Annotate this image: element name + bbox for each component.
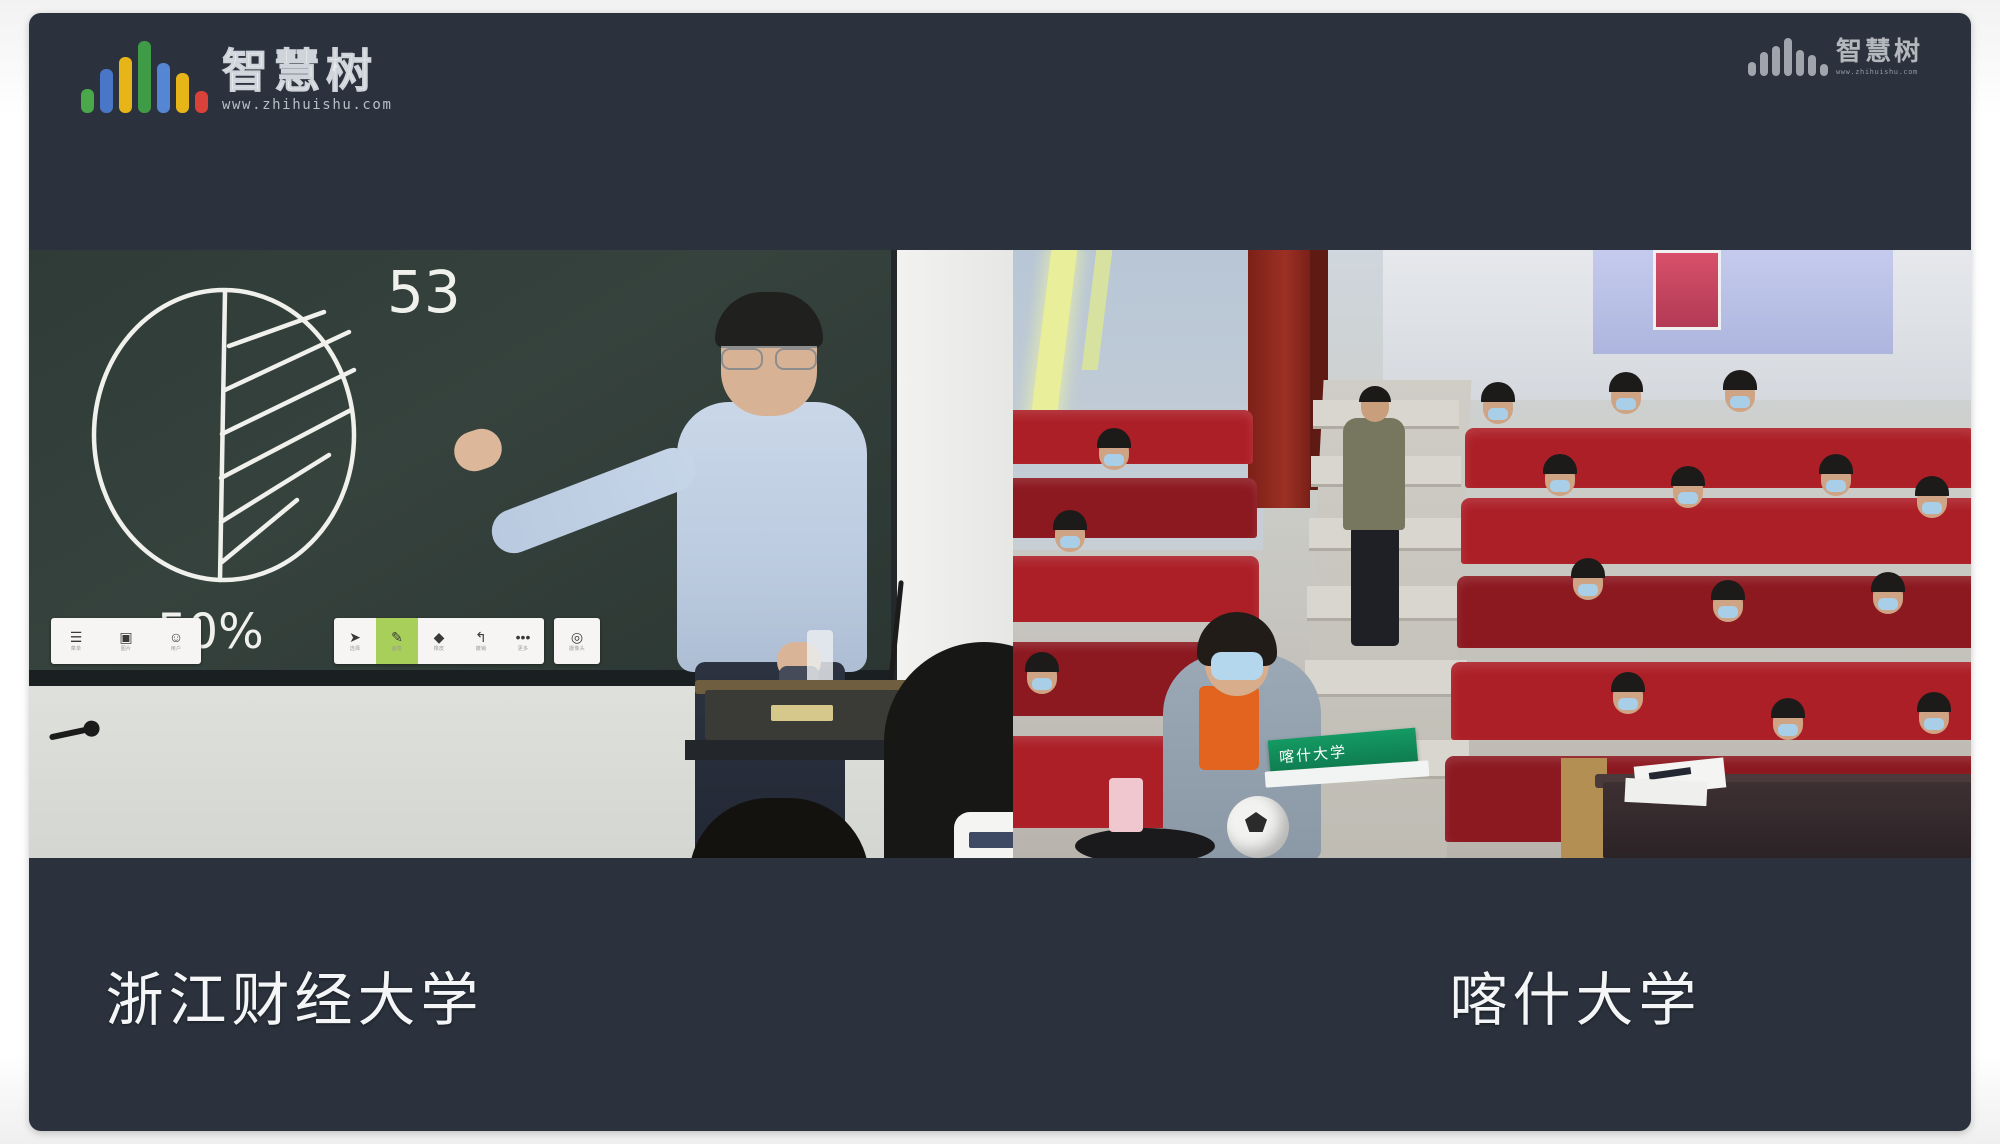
projection-screen	[1593, 250, 1893, 354]
side-cabinet	[1561, 758, 1607, 858]
papers-secondary	[1624, 778, 1707, 806]
caption-left-label: 浙江财经大学	[105, 953, 483, 1037]
hamburger-menu-glyph: ☰	[70, 630, 83, 644]
brand-url: www.zhihuishu.com	[222, 97, 393, 113]
camera-glyph: ◎	[571, 630, 583, 644]
face-mask	[1922, 502, 1942, 514]
seat-row	[1013, 556, 1259, 622]
face-mask	[1778, 724, 1798, 736]
undo-label: 撤销	[476, 645, 487, 652]
image-label: 图片	[121, 645, 132, 652]
face-mask	[1826, 480, 1846, 492]
watermark-url: www.zhihuishu.com	[1836, 68, 1923, 76]
face-mask	[1578, 584, 1598, 596]
face-mask	[1730, 396, 1750, 408]
board-camera-group[interactable]: ◎ 摄像头	[554, 618, 600, 664]
left-video-feed[interactable]: 53 50% ☰ 菜单 ▣ 图片 ☺ 用户	[29, 250, 1013, 858]
red-pillar	[1248, 250, 1310, 508]
face-mask	[1924, 718, 1944, 730]
brand-watermark: 智慧树 www.zhihuishu.com	[1748, 39, 1923, 76]
face-mask	[1718, 606, 1738, 618]
more-icon[interactable]: ••• 更多	[502, 630, 544, 652]
eraser-icon[interactable]: ◆ 橡皮	[418, 630, 460, 652]
hamburger-menu-label: 菜单	[71, 645, 82, 652]
lecturer-hair	[715, 292, 823, 348]
watermark-bars-icon	[1748, 42, 1828, 76]
soccer-ball	[1227, 796, 1289, 858]
undo-icon[interactable]: ↰ 撤销	[460, 630, 502, 652]
camera-icon[interactable]: ◎ 摄像头	[554, 630, 600, 652]
right-video-feed[interactable]: 喀什大学	[1013, 250, 1971, 858]
face-mask	[1060, 536, 1080, 548]
lecturer	[629, 290, 919, 858]
standing-instructor-legs	[1351, 526, 1399, 646]
brand-wordmark: 智慧树 www.zhihuishu.com	[222, 47, 393, 113]
image-icon[interactable]: ▣ 图片	[101, 630, 151, 652]
seat-row	[1465, 428, 1971, 488]
face-mask	[1616, 398, 1636, 410]
podium-panel	[771, 705, 833, 721]
foreground-student-scarf	[1199, 686, 1259, 770]
chalk-annotation-53: 53	[387, 258, 461, 326]
face-mask	[1032, 678, 1052, 690]
face-mask	[1618, 698, 1638, 710]
eraser-glyph: ◆	[434, 630, 445, 644]
pen-icon[interactable]: ✎ 画笔	[376, 618, 418, 664]
round-table	[1075, 828, 1215, 858]
brand-bars-icon	[81, 51, 208, 113]
board-menu-group[interactable]: ☰ 菜单 ▣ 图片 ☺ 用户	[51, 618, 201, 664]
seat-row	[1461, 498, 1971, 564]
banner-text: 喀什大学	[1278, 741, 1348, 768]
pen-label: 画笔	[392, 645, 403, 652]
more-label: 更多	[518, 645, 529, 652]
image-glyph: ▣	[119, 630, 132, 644]
stair-step	[1305, 660, 1467, 697]
user-avatar-icon[interactable]: ☺ 用户	[151, 630, 201, 652]
face-mask	[1878, 598, 1898, 610]
undo-glyph: ↰	[475, 630, 487, 644]
page-background: 智慧树 www.zhihuishu.com 智慧树 www.zhihuishu.…	[0, 0, 2000, 1144]
face-mask	[1488, 408, 1508, 420]
watermark-name: 智慧树	[1836, 39, 1923, 66]
caption-left: 浙江财经大学	[29, 858, 1000, 1131]
face-mask	[1211, 652, 1263, 680]
watermark-wordmark: 智慧树 www.zhihuishu.com	[1836, 39, 1923, 76]
lecturer-torso	[677, 402, 867, 672]
cursor-label: 选择	[350, 645, 361, 652]
board-tools-group[interactable]: ➤ 选择 ✎ 画笔 ◆ 橡皮 ↰ 撤销	[334, 618, 544, 664]
face-mask	[1550, 480, 1570, 492]
standing-instructor-body	[1343, 418, 1405, 530]
face-mask	[1678, 492, 1698, 504]
user-avatar-glyph: ☺	[169, 630, 183, 644]
hamburger-menu-icon[interactable]: ☰ 菜单	[51, 630, 101, 652]
more-glyph: •••	[516, 630, 531, 644]
camera-label: 摄像头	[569, 645, 585, 652]
caption-bar: 浙江财经大学 喀什大学	[29, 858, 1971, 1131]
cursor-glyph: ➤	[349, 630, 361, 644]
video-player-panel: 智慧树 www.zhihuishu.com 智慧树 www.zhihuishu.…	[29, 13, 1971, 1131]
face-mask	[1104, 454, 1124, 466]
seat-row	[1451, 662, 1971, 740]
seat-row	[1013, 478, 1257, 538]
cursor-icon[interactable]: ➤ 选择	[334, 630, 376, 652]
shirt-print	[969, 832, 1013, 848]
eraser-label: 橡皮	[434, 645, 445, 652]
drink-cup	[1109, 778, 1143, 832]
seat-row	[1013, 410, 1253, 464]
caption-right: 喀什大学	[1000, 858, 1971, 1131]
user-avatar-label: 用户	[171, 645, 182, 652]
wall-poster	[1653, 250, 1721, 330]
brand-name: 智慧树	[222, 47, 393, 95]
video-strip: 53 50% ☰ 菜单 ▣ 图片 ☺ 用户	[29, 250, 1971, 858]
brand-logo: 智慧树 www.zhihuishu.com	[81, 47, 393, 113]
pen-glyph: ✎	[391, 630, 403, 644]
glasses-icon	[721, 346, 817, 366]
caption-right-label: 喀什大学	[1449, 953, 1701, 1037]
